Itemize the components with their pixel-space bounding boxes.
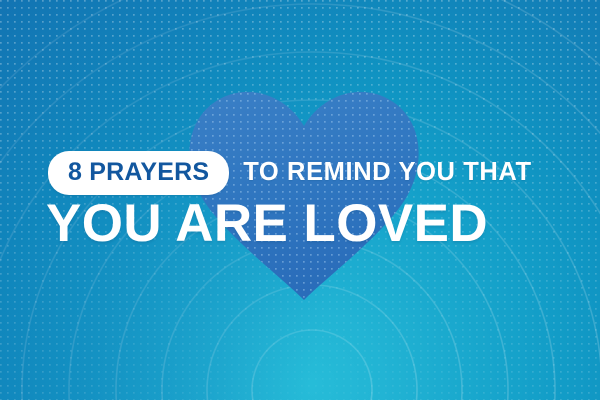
loved-promo-banner: 8 PRAYERS TO REMIND YOU THAT YOU ARE LOV…: [0, 0, 600, 400]
headline-subtext: TO REMIND YOU THAT: [243, 160, 531, 186]
headline-line-one: 8 PRAYERS TO REMIND YOU THAT: [48, 151, 532, 195]
prayer-count-badge-label: 8 PRAYERS: [68, 160, 209, 185]
prayer-count-badge: 8 PRAYERS: [48, 151, 229, 195]
headline-main-text: YOU ARE LOVED: [46, 197, 488, 250]
headline-block: 8 PRAYERS TO REMIND YOU THAT YOU ARE LOV…: [0, 0, 600, 400]
